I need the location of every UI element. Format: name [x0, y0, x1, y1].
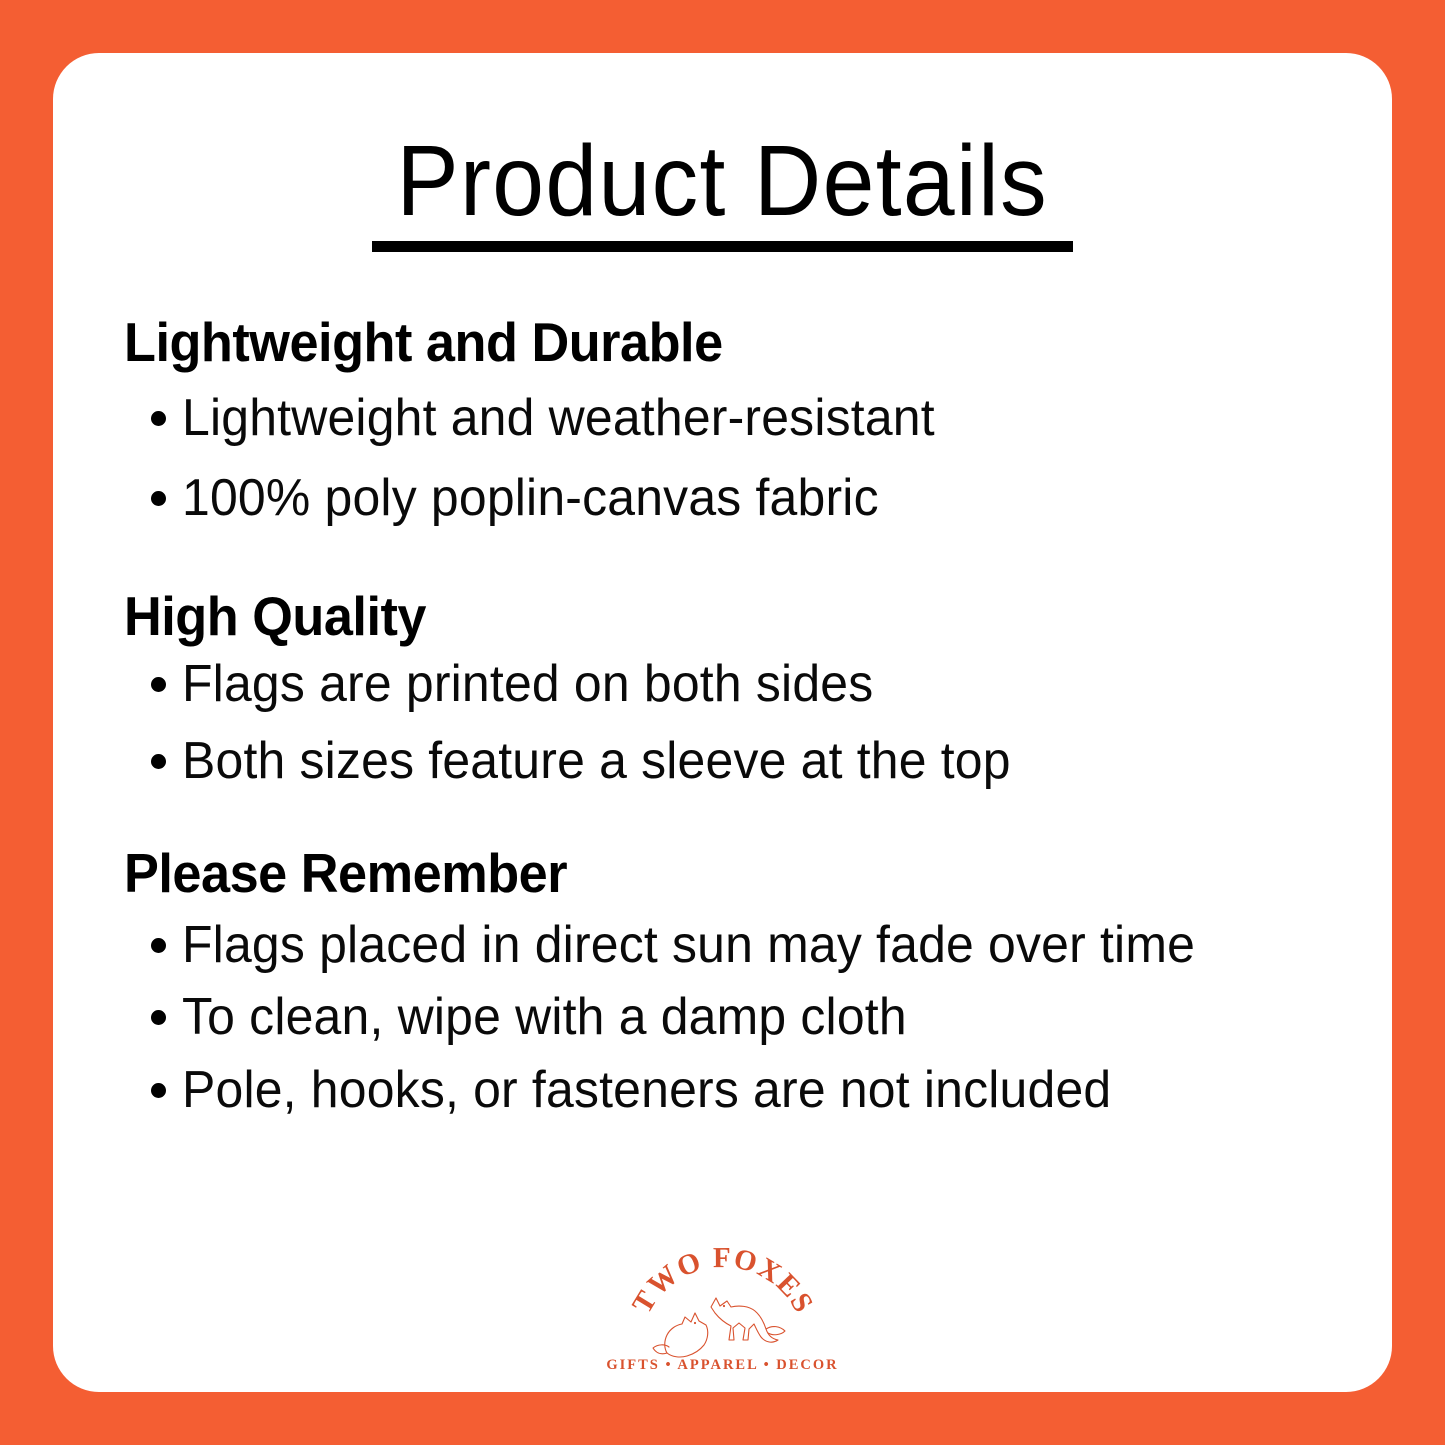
list-item: Flags placed in direct sun may fade over… [124, 911, 1334, 980]
list-item: 100% poly poplin-canvas fabric [124, 464, 1334, 533]
page-title: Product Details [397, 125, 1049, 237]
list-item-label: Lightweight and weather-resistant [182, 384, 935, 453]
list-item: To clean, wipe with a damp cloth [124, 983, 1334, 1052]
bullet-dot-icon [151, 411, 166, 426]
bullet-dot-icon [151, 938, 166, 953]
bullet-dot-icon [151, 677, 166, 692]
bullet-dot-icon [151, 1010, 166, 1025]
title-underline [372, 241, 1073, 252]
list-item: Pole, hooks, or fasteners are not includ… [124, 1056, 1334, 1125]
list-item: Lightweight and weather-resistant [124, 384, 1334, 453]
section-please-remember: Please Remember Flags placed in direct s… [124, 846, 1334, 1125]
bullet-list: Flags are printed on both sides Both siz… [124, 650, 1334, 795]
details-sections: Lightweight and Durable Lightweight and … [124, 315, 1334, 1128]
page-title-block: Product Details [53, 125, 1392, 252]
list-item-label: Flags are printed on both sides [182, 650, 873, 719]
poster-canvas: Product Details Lightweight and Durable … [0, 0, 1445, 1445]
bullet-dot-icon [151, 1083, 166, 1098]
list-item-label: To clean, wipe with a damp cloth [182, 983, 907, 1052]
logo-arc-text: TWO FOXES [626, 1243, 820, 1319]
two-foxes-logo-icon: TWO FOXES [623, 1243, 823, 1363]
section-high-quality: High Quality Flags are printed on both s… [124, 589, 1334, 795]
bullet-dot-icon [151, 491, 166, 506]
bullet-list: Lightweight and weather-resistant 100% p… [124, 384, 1334, 532]
brand-logo: TWO FOXES GIFTS • APPAREL • D [593, 1243, 853, 1374]
section-heading: Please Remember [124, 846, 1274, 901]
bullet-list: Flags placed in direct sun may fade over… [124, 911, 1334, 1125]
svg-text:TWO FOXES: TWO FOXES [626, 1243, 820, 1319]
bullet-dot-icon [151, 754, 166, 769]
section-heading: Lightweight and Durable [124, 315, 1274, 370]
list-item-label: Flags placed in direct sun may fade over… [182, 911, 1195, 980]
list-item-label: 100% poly poplin-canvas fabric [182, 464, 879, 533]
section-heading: High Quality [124, 589, 1274, 644]
list-item: Flags are printed on both sides [124, 650, 1334, 719]
list-item-label: Both sizes feature a sleeve at the top [182, 727, 1011, 796]
list-item: Both sizes feature a sleeve at the top [124, 727, 1334, 796]
section-lightweight-and-durable: Lightweight and Durable Lightweight and … [124, 315, 1334, 532]
content-card: Product Details Lightweight and Durable … [53, 53, 1392, 1392]
list-item-label: Pole, hooks, or fasteners are not includ… [182, 1056, 1111, 1125]
